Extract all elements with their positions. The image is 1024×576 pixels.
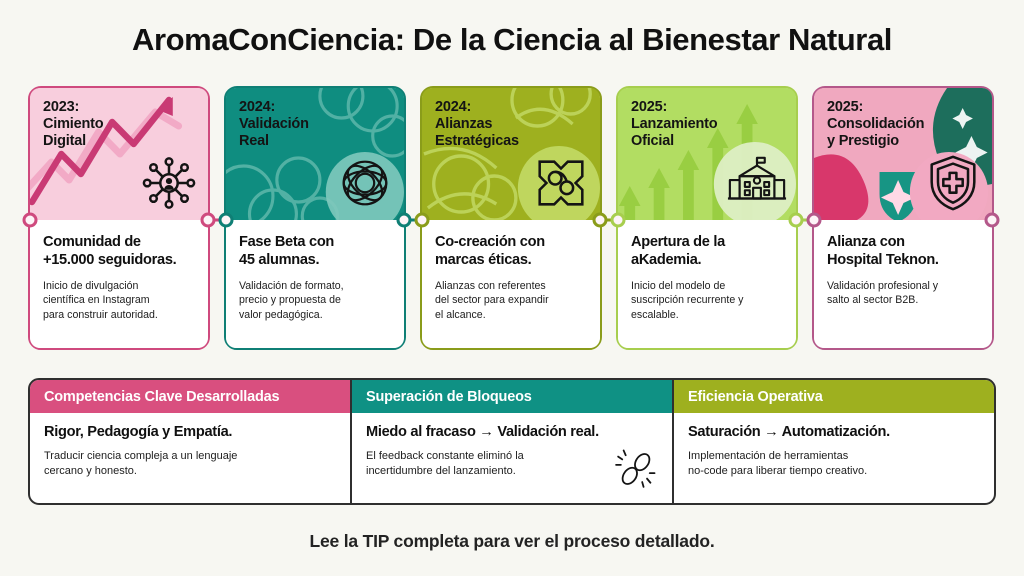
summary-column-heading: Competencias Clave Desarrolladas <box>30 380 350 413</box>
timeline-card-description: Inicio del modelo de suscripción recurre… <box>631 279 784 323</box>
summary-column: Eficiencia Operativa Saturación → Automa… <box>674 380 994 503</box>
timeline-node-dot-left <box>611 213 626 228</box>
summary-column: Superación de Bloqueos Miedo al fracaso … <box>352 380 674 503</box>
timeline-card-description: Inicio de divulgación científica en Inst… <box>43 279 196 323</box>
knot-icon <box>530 152 592 214</box>
molecule-icon <box>138 152 200 214</box>
summary-column-description: Implementación de herramientas no-code p… <box>688 449 943 480</box>
timeline-period-label: 2023: Cimiento Digital <box>30 88 208 150</box>
timeline-card[interactable]: 2023: Cimiento Digital Comunidad de +15.… <box>28 86 210 350</box>
timeline-period-label: 2024: Alianzas Estratégicas <box>422 88 600 150</box>
summary-column-title: Miedo al fracaso → Validación real. <box>366 424 660 442</box>
footer-cta: Lee la TIP completa para ver el proceso … <box>0 531 1024 552</box>
summary-column-body: Rigor, Pedagogía y Empatía. Traducir cie… <box>30 413 350 503</box>
timeline-node-dot-left <box>415 213 430 228</box>
timeline-card-body: Co-creación con marcas éticas. Alianzas … <box>422 220 600 348</box>
summary-column-description: Traducir ciencia compleja a un lenguaje … <box>44 449 299 480</box>
timeline-card-title: Fase Beta con 45 alumnas. <box>239 234 392 270</box>
timeline-card-title: Apertura de la aKademia. <box>631 234 784 270</box>
summary-column-heading: Superación de Bloqueos <box>352 380 672 413</box>
timeline-card-description: Alianzas con referentes del sector para … <box>435 279 588 323</box>
timeline-card-title: Co-creación con marcas éticas. <box>435 234 588 270</box>
timeline-card-header: 2023: Cimiento Digital <box>30 88 208 220</box>
timeline-card-header: 2025: Lanzamiento Oficial <box>618 88 796 220</box>
summary-column-description: El feedback constante eliminó la incerti… <box>366 449 621 480</box>
summary-column-body: Miedo al fracaso → Validación real. El f… <box>352 413 672 503</box>
summary-column-title: Saturación → Automatización. <box>688 424 982 442</box>
timeline-card[interactable]: 2024: Validación Real Fase Beta con 45 a… <box>224 86 406 350</box>
timeline-card-title: Alianza con Hospital Teknon. <box>827 234 980 270</box>
timeline-card-body: Fase Beta con 45 alumnas. Validación de … <box>226 220 404 348</box>
timeline-node-dot-right <box>593 213 608 228</box>
timeline-card-title: Comunidad de +15.000 seguidoras. <box>43 234 196 270</box>
timeline-node-dot-right <box>985 213 1000 228</box>
timeline-node-dot-right <box>397 213 412 228</box>
summary-column-heading: Eficiencia Operativa <box>674 380 994 413</box>
timeline-node-dot-left <box>807 213 822 228</box>
timeline-period-label: 2025: Consolidación y Prestigio <box>814 88 992 150</box>
summary-column-body: Saturación → Automatización. Implementac… <box>674 413 994 503</box>
timeline-node-dot-left <box>23 213 38 228</box>
timeline-card-description: Validación de formato, precio y propuest… <box>239 279 392 323</box>
timeline-card[interactable]: 2025: Lanzamiento Oficial Apertura de la… <box>616 86 798 350</box>
timeline-card-header: 2025: Consolidación y Prestigio <box>814 88 992 220</box>
atom-icon <box>334 152 396 214</box>
timeline-node-dot-right <box>789 213 804 228</box>
timeline-card[interactable]: 2024: Alianzas Estratégicas Co-creación … <box>420 86 602 350</box>
timeline-card[interactable]: 2025: Consolidación y Prestigio Alianza … <box>812 86 994 350</box>
timeline-card-header: 2024: Validación Real <box>226 88 404 220</box>
timeline-card-body: Apertura de la aKademia. Inicio del mode… <box>618 220 796 348</box>
academy-building-icon <box>726 152 788 214</box>
summary-panel: Competencias Clave Desarrolladas Rigor, … <box>28 378 996 505</box>
timeline-period-label: 2024: Validación Real <box>226 88 404 150</box>
timeline-card-body: Comunidad de +15.000 seguidoras. Inicio … <box>30 220 208 348</box>
timeline-card-header: 2024: Alianzas Estratégicas <box>422 88 600 220</box>
medical-shield-icon <box>922 152 984 214</box>
timeline-node-dot-right <box>201 213 216 228</box>
timeline-node-dot-left <box>219 213 234 228</box>
summary-column-title: Rigor, Pedagogía y Empatía. <box>44 424 338 442</box>
timeline-card-body: Alianza con Hospital Teknon. Validación … <box>814 220 992 348</box>
timeline-card-description: Validación profesional y salto al sector… <box>827 279 980 308</box>
summary-column: Competencias Clave Desarrolladas Rigor, … <box>30 380 352 503</box>
timeline-period-label: 2025: Lanzamiento Oficial <box>618 88 796 150</box>
infographic-canvas: AromaConCiencia: De la Ciencia al Bienes… <box>0 0 1024 576</box>
timeline-row: 2023: Cimiento Digital Comunidad de +15.… <box>28 86 996 350</box>
page-title: AromaConCiencia: De la Ciencia al Bienes… <box>0 22 1024 58</box>
broken-chain-icon <box>614 447 658 491</box>
